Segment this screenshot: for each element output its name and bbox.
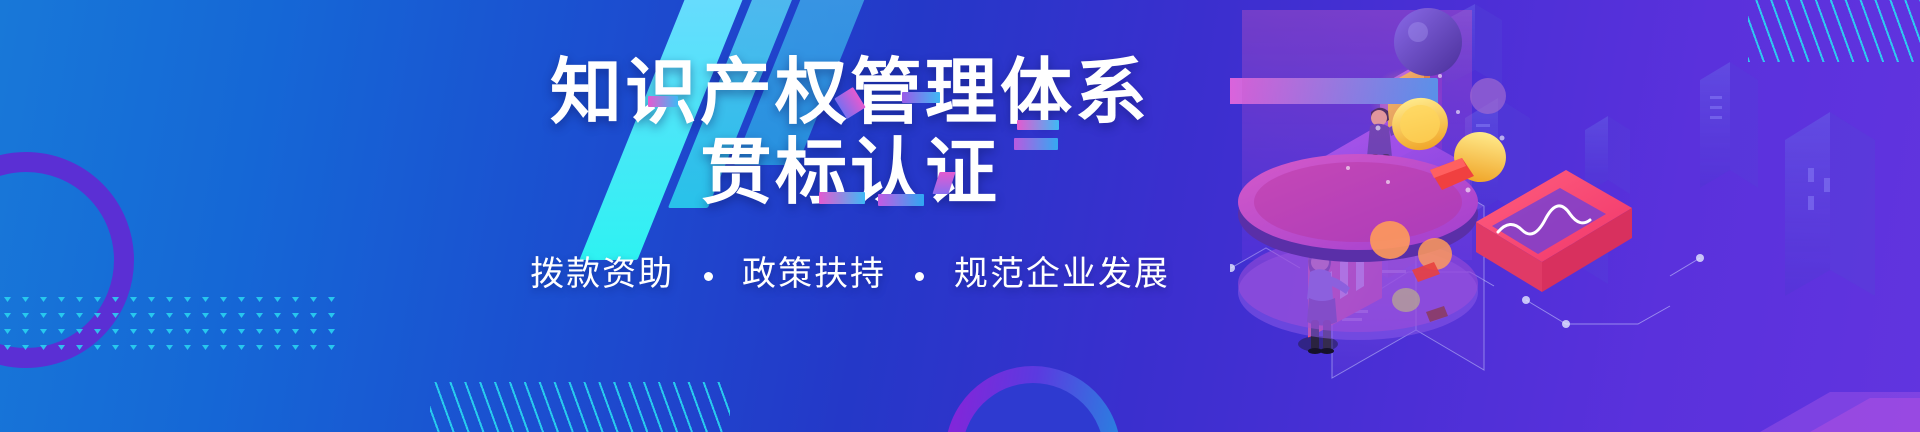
feature-item-1: 拨款资助	[530, 255, 674, 293]
triangle-dot-grid	[4, 297, 346, 350]
cyan-hatch-bottom-left	[430, 382, 730, 432]
dark-sphere	[1394, 8, 1462, 76]
separator-dot-icon	[915, 272, 924, 281]
feature-item-3: 规范企业发展	[954, 255, 1170, 293]
feature-list: 拨款资助 政策扶持 规范企业发展	[500, 246, 1200, 295]
page-subtitle-heading: 贯标认证	[500, 134, 1200, 212]
banner-copy: 知识产权管理体系 贯标认证 拨款资助 政策扶持 规范企业发展	[500, 54, 1200, 295]
small-sphere	[1470, 78, 1506, 114]
coin-cylinder-group	[1238, 8, 1511, 340]
separator-dot-icon	[704, 272, 713, 281]
feature-item-2: 政策扶持	[742, 255, 886, 293]
gradient-ring-bottom	[945, 366, 1121, 432]
isometric-illustration	[1230, 0, 1920, 432]
promo-banner: 知识产权管理体系 贯标认证 拨款资助 政策扶持 规范企业发展	[0, 0, 1920, 432]
page-title: 知识产权管理体系	[500, 54, 1200, 132]
gradient-steps	[1760, 392, 1920, 432]
